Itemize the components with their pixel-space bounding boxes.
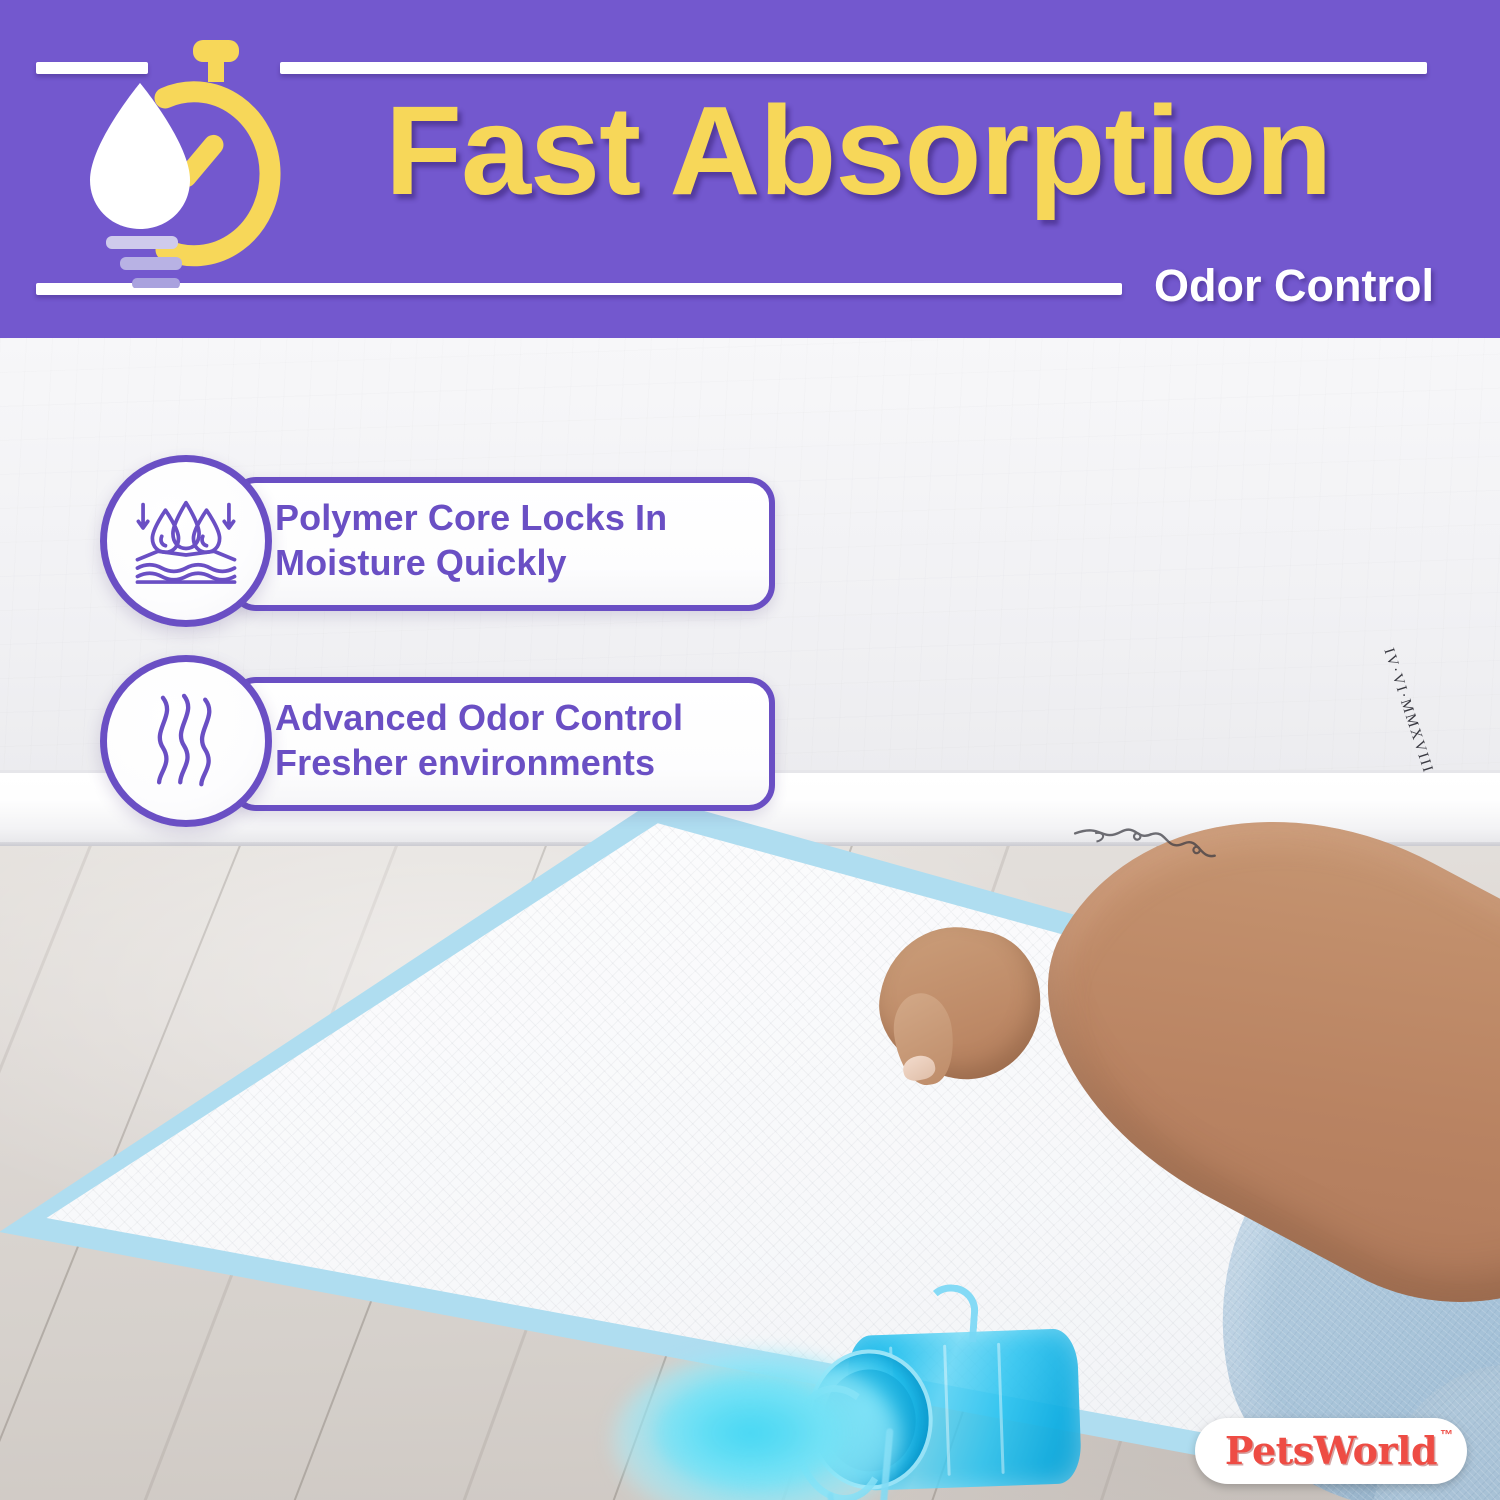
trademark-symbol: ™	[1440, 1427, 1453, 1442]
feature-line-1: Polymer Core Locks In	[275, 495, 775, 540]
page-title: Fast Absorption	[385, 88, 1331, 214]
banner-subtitle: Odor Control	[1154, 263, 1434, 308]
top-rule-right	[280, 62, 1427, 74]
feature-label: Advanced Odor Control Fresher environmen…	[275, 695, 775, 786]
feature-label: Polymer Core Locks In Moisture Quickly	[275, 495, 775, 586]
feature-line-1: Advanced Odor Control	[275, 695, 775, 740]
brand-logo: PetsWorld ™	[1195, 1418, 1467, 1484]
brand-name: PetsWorld	[1225, 1432, 1437, 1470]
water-drop-stopwatch-icon	[80, 38, 300, 288]
absorption-droplets-icon	[100, 455, 272, 627]
header-banner: Fast Absorption Odor Control	[0, 0, 1500, 338]
absorbed-liquid-core	[655, 1378, 845, 1488]
odor-waves-icon	[100, 655, 272, 827]
product-marketing-image: Fast Absorption Odor Control	[0, 0, 1500, 1500]
feature-line-2: Fresher environments	[275, 740, 775, 785]
feature-line-2: Moisture Quickly	[275, 540, 775, 585]
